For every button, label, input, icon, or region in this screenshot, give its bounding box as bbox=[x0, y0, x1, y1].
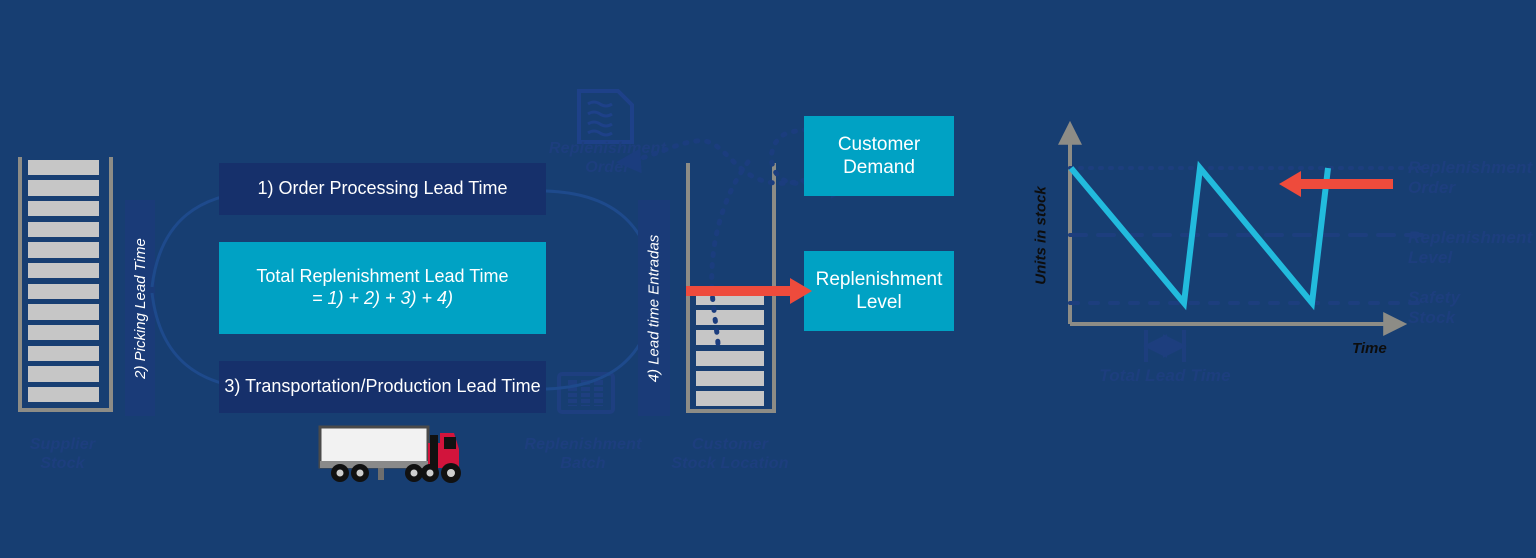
chart-label-replenishment-order-line1: Replenishment bbox=[1408, 158, 1536, 178]
supplier-pallet-stack bbox=[18, 157, 113, 412]
replenishment-order-pointer bbox=[1275, 169, 1395, 199]
pallet bbox=[28, 387, 99, 403]
pallet bbox=[28, 180, 99, 196]
transportation-production-lead-time-box[interactable]: 3) Transportation/Production Lead Time bbox=[219, 361, 546, 413]
order-processing-lead-time-label: 1) Order Processing Lead Time bbox=[257, 178, 507, 200]
chart-label-replenishment-order: Replenishment Order bbox=[1408, 158, 1536, 198]
y-axis-label: Units in stock bbox=[1028, 175, 1048, 295]
total-lead-time-line1: Total Replenishment Lead Time bbox=[256, 266, 508, 288]
total-replenishment-lead-time-box[interactable]: Total Replenishment Lead Time = 1) + 2) … bbox=[219, 242, 546, 334]
pallet bbox=[696, 391, 764, 406]
pallet bbox=[28, 160, 99, 176]
replenishment-level-box[interactable]: Replenishment Level bbox=[804, 251, 954, 331]
pallet bbox=[28, 346, 99, 362]
chart-label-total-lead-time: Total Lead Time bbox=[1080, 366, 1250, 386]
customer-stock-caption: Customer Stock Location bbox=[640, 436, 820, 474]
pallet bbox=[28, 325, 99, 341]
picking-lead-time-label: 2) Picking Lead Time bbox=[132, 238, 149, 379]
chart-label-replenishment-level-line2: Level bbox=[1408, 248, 1536, 268]
x-axis-label-text: Time bbox=[1352, 340, 1387, 357]
truck-icon bbox=[318, 425, 458, 485]
pallet bbox=[28, 242, 99, 258]
customer-demand-line2: Demand bbox=[843, 156, 915, 179]
pallet bbox=[28, 366, 99, 382]
total-lead-time-line2: = 1) + 2) + 3) + 4) bbox=[312, 288, 453, 310]
supplier-stock-caption-line2: Stock bbox=[0, 455, 125, 474]
red-arrow-icon bbox=[686, 276, 816, 306]
supplier-stock-caption-line1: Supplier bbox=[0, 436, 125, 455]
customer-demand-line1: Customer bbox=[838, 133, 920, 156]
pallet bbox=[28, 304, 99, 320]
chart-label-replenishment-order-line2: Order bbox=[1408, 178, 1536, 198]
chart-label-safety-stock-line2: Stock bbox=[1408, 308, 1536, 328]
pallet bbox=[696, 371, 764, 386]
chart-label-safety-stock-line1: Safety bbox=[1408, 288, 1536, 308]
pallet bbox=[28, 222, 99, 238]
replenishment-level-line2: Level bbox=[856, 291, 901, 314]
chart-label-total-lead-time-text: Total Lead Time bbox=[1099, 366, 1230, 385]
supplier-rack bbox=[18, 157, 113, 415]
pallet bbox=[28, 263, 99, 279]
x-axis-label: Time bbox=[1352, 340, 1387, 357]
pallet bbox=[696, 351, 764, 366]
customer-stock-caption-line2: Stock Location bbox=[640, 455, 820, 474]
chart-label-replenishment-level-line1: Replenishment bbox=[1408, 228, 1536, 248]
y-axis-label-text: Units in stock bbox=[1033, 181, 1050, 291]
chart-label-replenishment-level: Replenishment Level bbox=[1408, 228, 1536, 268]
customer-stock-caption-line1: Customer bbox=[640, 436, 820, 455]
diagram-canvas: Supplier Stock 2) Picking Lead Time 1) O… bbox=[0, 0, 1536, 558]
order-processing-lead-time-box[interactable]: 1) Order Processing Lead Time bbox=[219, 163, 546, 215]
dotted-demand-trail bbox=[700, 160, 780, 350]
stock-sawtooth-chart bbox=[1050, 118, 1470, 388]
customer-demand-box[interactable]: Customer Demand bbox=[804, 116, 954, 196]
pallet bbox=[28, 284, 99, 300]
total-lead-time-bracket bbox=[1146, 330, 1184, 362]
supplier-stock-caption: Supplier Stock bbox=[0, 436, 125, 474]
chart-label-safety-stock: Safety Stock bbox=[1408, 288, 1536, 328]
transportation-lead-time-label: 3) Transportation/Production Lead Time bbox=[224, 376, 540, 398]
entradas-lead-time-label: 4) Lead time Entradas bbox=[646, 234, 663, 382]
pallet bbox=[28, 201, 99, 217]
replenishment-level-line1: Replenishment bbox=[816, 268, 943, 291]
